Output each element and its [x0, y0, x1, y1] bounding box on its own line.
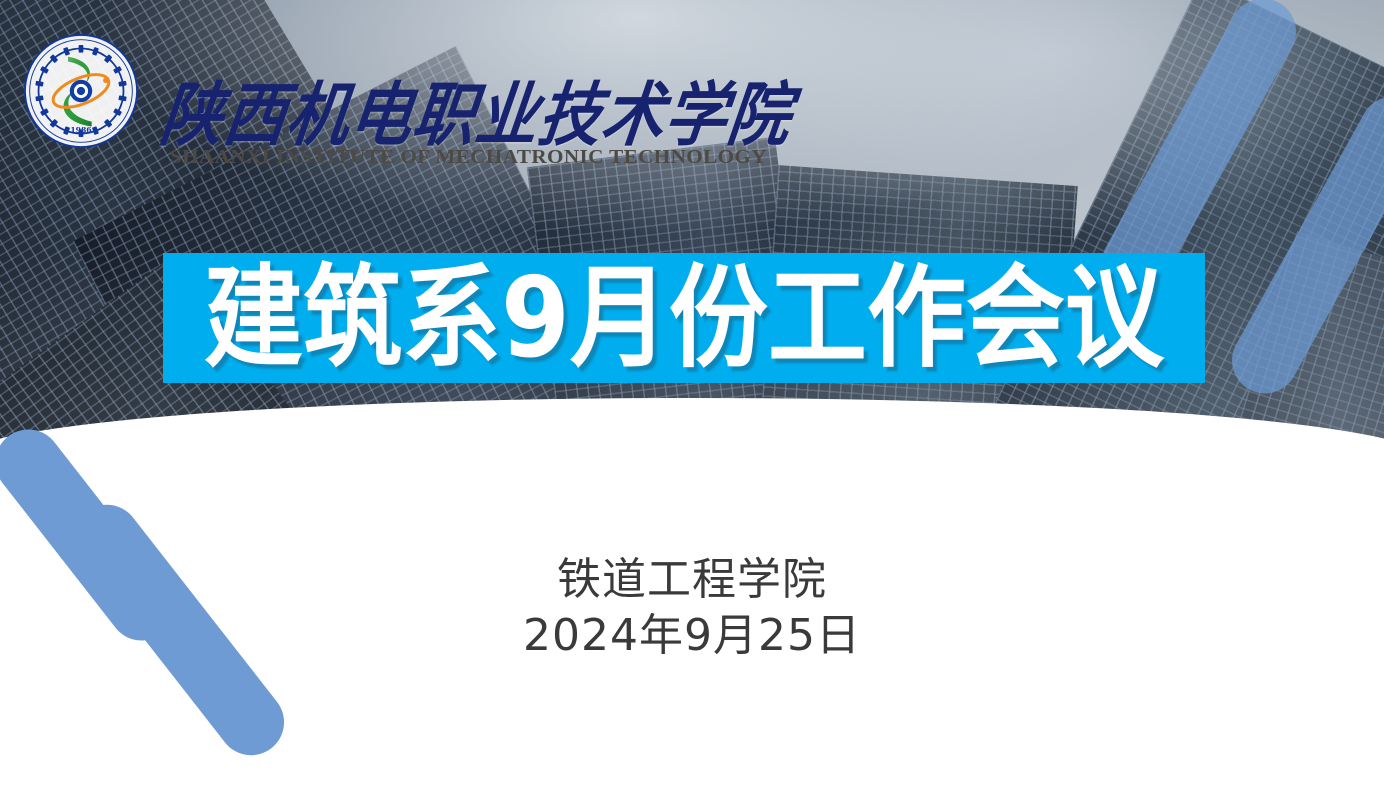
institution-logo-lockup: 1986 陕西机电职业技术学院 SHAANXI INSTITUTE OF MEC… [22, 30, 782, 155]
presentation-title-slide: 1986 陕西机电职业技术学院 SHAANXI INSTITUTE OF MEC… [0, 0, 1384, 791]
subtitle-date: 2024年9月25日 [0, 608, 1384, 664]
subtitle-block: 铁道工程学院 2024年9月25日 [0, 552, 1384, 665]
slide-title: 建筑系9月份工作会议 [204, 263, 1164, 374]
svg-text:1986: 1986 [70, 125, 91, 134]
school-crest-icon: 1986 [22, 32, 140, 150]
subtitle-organization: 铁道工程学院 [0, 552, 1384, 608]
title-banner: 建筑系9月份工作会议 [163, 253, 1205, 383]
institution-name-cn: 陕西机电职业技术学院 [156, 59, 798, 160]
institution-name-en: SHAANXI INSTITUTE OF MECHATRONIC TECHNOL… [170, 146, 767, 169]
